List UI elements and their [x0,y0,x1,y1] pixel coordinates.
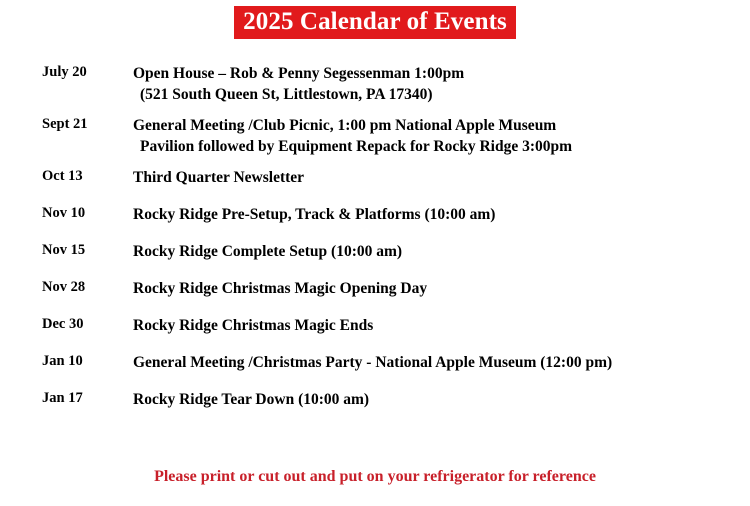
event-date: July 20 [42,63,133,82]
events-table-body: July 20Open House – Rob & Penny Segessen… [0,63,750,426]
event-date: Nov 10 [42,204,133,223]
event-row: Dec 30Rocky Ridge Christmas Magic Ends [0,315,750,352]
event-description-line: Third Quarter Newsletter [133,167,750,188]
footer-note: Please print or cut out and put on your … [0,466,750,488]
event-date-cell: Nov 10 [0,204,133,241]
event-description-line: Pavilion followed by Equipment Repack fo… [133,136,750,157]
event-description-cell: Rocky Ridge Complete Setup (10:00 am) [133,241,750,278]
event-description-line: General Meeting /Club Picnic, 1:00 pm Na… [133,115,750,136]
event-description-cell: Rocky Ridge Pre-Setup, Track & Platforms… [133,204,750,241]
event-date: Sept 21 [42,115,133,134]
event-description-line: (521 South Queen St, Littlestown, PA 173… [133,84,750,105]
page-title: 2025 Calendar of Events [234,6,516,39]
event-date-cell: Oct 13 [0,167,133,204]
event-date-cell: Jan 10 [0,352,133,389]
event-row: July 20Open House – Rob & Penny Segessen… [0,63,750,115]
event-description-line: Open House – Rob & Penny Segessenman 1:0… [133,63,750,84]
event-date-cell: Nov 28 [0,278,133,315]
event-description-cell: General Meeting /Club Picnic, 1:00 pm Na… [133,115,750,167]
event-description-cell: Third Quarter Newsletter [133,167,750,204]
event-row: Jan 10General Meeting /Christmas Party -… [0,352,750,389]
event-date-cell: Nov 15 [0,241,133,278]
event-description-line: Rocky Ridge Christmas Magic Opening Day [133,278,750,299]
calendar-document: 2025 Calendar of Events July 20Open Hous… [0,0,750,506]
event-date: Oct 13 [42,167,133,186]
events-table: July 20Open House – Rob & Penny Segessen… [0,63,750,426]
event-description-line: Rocky Ridge Pre-Setup, Track & Platforms… [133,204,750,225]
event-row: Nov 28Rocky Ridge Christmas Magic Openin… [0,278,750,315]
event-date: Nov 28 [42,278,133,297]
event-date-cell: Sept 21 [0,115,133,167]
event-row: Sept 21General Meeting /Club Picnic, 1:0… [0,115,750,167]
event-description-line: Rocky Ridge Complete Setup (10:00 am) [133,241,750,262]
event-date-cell: July 20 [0,63,133,115]
event-description-line: Rocky Ridge Tear Down (10:00 am) [133,389,750,410]
event-row: Nov 15Rocky Ridge Complete Setup (10:00 … [0,241,750,278]
event-description-cell: Rocky Ridge Christmas Magic Opening Day [133,278,750,315]
event-description-line: Rocky Ridge Christmas Magic Ends [133,315,750,336]
event-date: Jan 10 [42,352,133,371]
title-banner-row: 2025 Calendar of Events [0,0,750,39]
event-date: Dec 30 [42,315,133,334]
event-row: Nov 10Rocky Ridge Pre-Setup, Track & Pla… [0,204,750,241]
event-description-cell: Rocky Ridge Tear Down (10:00 am) [133,389,750,426]
event-date: Nov 15 [42,241,133,260]
event-description-line: General Meeting /Christmas Party - Natio… [133,352,750,373]
event-date: Jan 17 [42,389,133,408]
event-row: Jan 17Rocky Ridge Tear Down (10:00 am) [0,389,750,426]
event-description-cell: Open House – Rob & Penny Segessenman 1:0… [133,63,750,115]
event-description-cell: Rocky Ridge Christmas Magic Ends [133,315,750,352]
event-date-cell: Dec 30 [0,315,133,352]
event-row: Oct 13Third Quarter Newsletter [0,167,750,204]
event-date-cell: Jan 17 [0,389,133,426]
event-description-cell: General Meeting /Christmas Party - Natio… [133,352,750,389]
